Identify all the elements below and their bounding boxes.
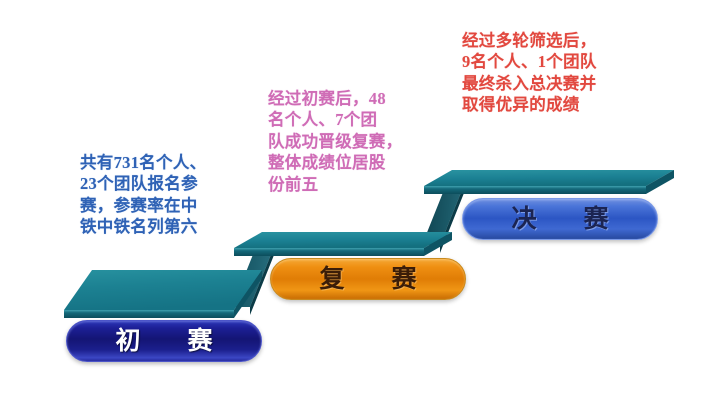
step-1-slab	[64, 270, 262, 318]
diagram-canvas: 共有731名个人、 23个团队报名参 赛，参赛率在中 铁中铁名列第六 经过初赛后…	[0, 0, 720, 415]
note-step-3: 经过多轮筛选后， 9名个人、1个团队 最终杀入总决赛并 取得优异的成绩	[462, 30, 638, 116]
step-label-text: 初 赛	[104, 329, 223, 354]
step-label-text: 复 赛	[308, 267, 427, 292]
note-step-1: 共有731名个人、 23个团队报名参 赛，参赛率在中 铁中铁名列第六	[80, 152, 248, 238]
step-label-pill-chusai[interactable]: 初 赛	[66, 320, 262, 362]
step-label-pill-fusai[interactable]: 复 赛	[270, 258, 466, 300]
step-label-pill-juesai[interactable]: 决 赛	[462, 198, 658, 240]
step-2-slab	[234, 232, 452, 256]
step-3-slab	[424, 170, 674, 194]
note-step-2: 经过初赛后，48 名个人、7个团 队成功晋级复赛， 整体成绩位居股 份前五	[268, 88, 420, 195]
step-label-text: 决 赛	[500, 207, 619, 232]
